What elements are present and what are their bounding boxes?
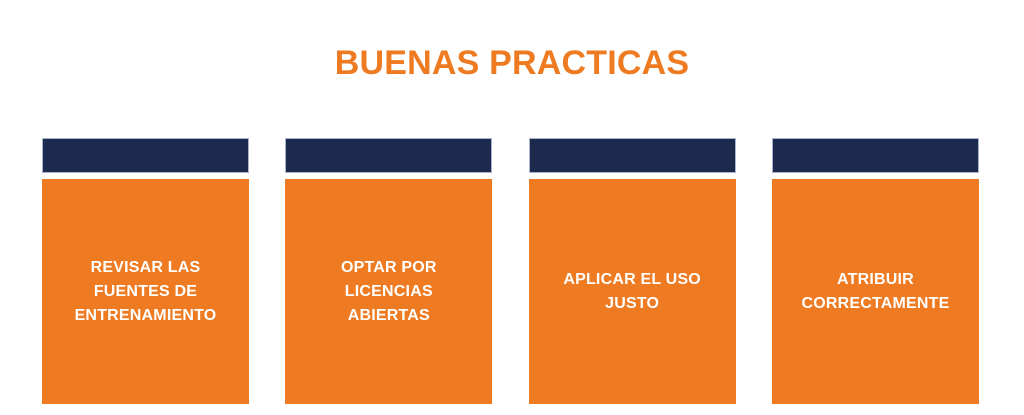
- card-label: REVISAR LAS FUENTES DE ENTRENAMIENTO: [75, 256, 217, 328]
- card-label: APLICAR EL USO JUSTO: [563, 268, 701, 316]
- slide-canvas: BUENAS PRACTICAS REVISAR LAS FUENTES DE …: [0, 0, 1024, 415]
- card-body: OPTAR POR LICENCIAS ABIERTAS: [285, 179, 492, 404]
- card-body: APLICAR EL USO JUSTO: [529, 179, 736, 404]
- card-header-bar: [772, 138, 979, 173]
- card-header-bar: [285, 138, 492, 173]
- practice-card-atribuir-correctamente[interactable]: ATRIBUIR CORRECTAMENTE: [772, 138, 979, 404]
- practice-card-aplicar-uso-justo[interactable]: APLICAR EL USO JUSTO: [529, 138, 736, 404]
- card-label: ATRIBUIR CORRECTAMENTE: [801, 268, 949, 316]
- card-header-bar: [42, 138, 249, 173]
- card-header-bar: [529, 138, 736, 173]
- page-title: BUENAS PRACTICAS: [0, 43, 1024, 83]
- card-label: OPTAR POR LICENCIAS ABIERTAS: [341, 256, 437, 328]
- practice-card-revisar-fuentes-entrenamiento[interactable]: REVISAR LAS FUENTES DE ENTRENAMIENTO: [42, 138, 249, 404]
- practices-card-row: REVISAR LAS FUENTES DE ENTRENAMIENTO OPT…: [42, 138, 979, 404]
- card-body: REVISAR LAS FUENTES DE ENTRENAMIENTO: [42, 179, 249, 404]
- practice-card-optar-licencias-abiertas[interactable]: OPTAR POR LICENCIAS ABIERTAS: [285, 138, 492, 404]
- card-body: ATRIBUIR CORRECTAMENTE: [772, 179, 979, 404]
